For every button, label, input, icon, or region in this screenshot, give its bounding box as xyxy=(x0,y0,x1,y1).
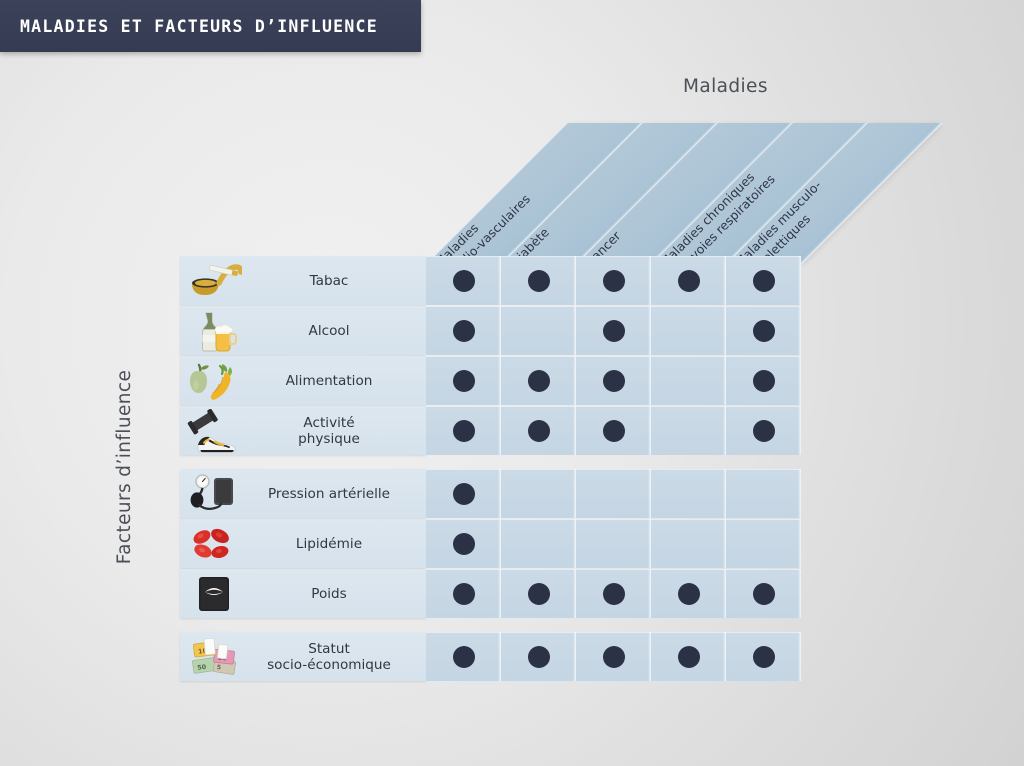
association-dot-icon xyxy=(603,270,625,292)
matrix-cell-marked[interactable] xyxy=(426,469,501,518)
row-label-panel[interactable]: Lipidémie xyxy=(180,519,426,568)
association-dot-icon xyxy=(453,483,475,505)
association-dot-icon xyxy=(453,320,475,342)
matrix-cell-marked[interactable] xyxy=(726,569,801,618)
matrix-cell-empty[interactable] xyxy=(651,469,726,518)
association-dot-icon xyxy=(528,583,550,605)
matrix-cell-marked[interactable] xyxy=(726,306,801,355)
association-dot-icon xyxy=(753,420,775,442)
title-bar: MALADIES ET FACTEURS D’INFLUENCE xyxy=(0,0,421,52)
association-dot-icon xyxy=(603,420,625,442)
association-dot-icon xyxy=(528,646,550,668)
matrix-cell-marked[interactable] xyxy=(501,632,576,681)
matrix-cell-marked[interactable] xyxy=(726,632,801,681)
matrix-cell-empty[interactable] xyxy=(576,519,651,568)
association-dot-icon xyxy=(453,646,475,668)
matrix-cell-empty[interactable] xyxy=(501,519,576,568)
matrix-cell-marked[interactable] xyxy=(501,406,576,455)
matrix-cell-empty[interactable] xyxy=(726,519,801,568)
row-label-panel[interactable]: Pression artérielle xyxy=(180,469,426,518)
matrix-cell-marked[interactable] xyxy=(651,569,726,618)
matrix-cell-marked[interactable] xyxy=(426,519,501,568)
row-label-panel[interactable]: Alimentation xyxy=(180,356,426,405)
matrix-cell-marked[interactable] xyxy=(726,256,801,305)
row-label-text: Lipidémie xyxy=(242,536,426,552)
matrix-cell-marked[interactable] xyxy=(426,306,501,355)
dumbbell-sneaker-icon xyxy=(186,408,242,453)
weight-scale-icon xyxy=(186,571,242,616)
association-dot-icon xyxy=(453,370,475,392)
association-dot-icon xyxy=(678,646,700,668)
association-dot-icon xyxy=(753,270,775,292)
matrix-cell-marked[interactable] xyxy=(576,306,651,355)
row-label-panel[interactable]: 50 5 20 10 Statut socio-économique xyxy=(180,632,426,681)
banknotes-icon: 50 5 20 10 xyxy=(186,634,242,679)
row-label-text: Activité physique xyxy=(242,415,426,447)
matrix-cell-marked[interactable] xyxy=(576,406,651,455)
matrix-cell-marked[interactable] xyxy=(726,356,801,405)
matrix-cell-marked[interactable] xyxy=(576,632,651,681)
row-label-text: Statut socio-économique xyxy=(242,641,426,673)
svg-text:50: 50 xyxy=(197,662,207,671)
row-label-panel[interactable]: Tabac xyxy=(180,256,426,305)
column-header-band: Maladies cardio-vasculairesDiabèteCancer… xyxy=(426,123,936,265)
association-dot-icon xyxy=(453,533,475,555)
matrix-cell-empty[interactable] xyxy=(651,406,726,455)
matrix-cell-marked[interactable] xyxy=(426,256,501,305)
rows-axis-title: Facteurs d’influence xyxy=(114,327,135,607)
association-dot-icon xyxy=(678,270,700,292)
blood-pressure-cuff-icon xyxy=(186,471,242,516)
matrix-cell-marked[interactable] xyxy=(426,632,501,681)
association-dot-icon xyxy=(603,583,625,605)
matrix-row-cells xyxy=(426,306,801,355)
matrix-cell-marked[interactable] xyxy=(426,406,501,455)
row-label-panel[interactable]: Poids xyxy=(180,569,426,618)
matrix-cell-marked[interactable] xyxy=(576,569,651,618)
matrix-cell-marked[interactable] xyxy=(651,256,726,305)
association-dot-icon xyxy=(603,370,625,392)
row-label-text: Alcool xyxy=(242,323,426,339)
association-dot-icon xyxy=(603,320,625,342)
matrix-row-cells xyxy=(426,632,801,681)
matrix-cell-empty[interactable] xyxy=(651,519,726,568)
association-dot-icon xyxy=(453,420,475,442)
matrix-row-cells xyxy=(426,356,801,405)
matrix-cell-marked[interactable] xyxy=(426,356,501,405)
association-dot-icon xyxy=(453,270,475,292)
pipe-cigarette-icon xyxy=(186,258,242,303)
matrix-row-cells xyxy=(426,406,801,455)
matrix-cell-empty[interactable] xyxy=(651,356,726,405)
matrix-row-cells xyxy=(426,519,801,568)
matrix-cell-marked[interactable] xyxy=(576,256,651,305)
matrix-cell-marked[interactable] xyxy=(651,632,726,681)
pear-carrot-icon xyxy=(186,358,242,403)
bottle-beer-icon xyxy=(186,308,242,353)
matrix-cell-marked[interactable] xyxy=(501,569,576,618)
row-label-panel[interactable]: Activité physique xyxy=(180,406,426,455)
matrix-cell-marked[interactable] xyxy=(576,356,651,405)
association-dot-icon xyxy=(678,583,700,605)
association-dot-icon xyxy=(603,646,625,668)
association-dot-icon xyxy=(753,320,775,342)
page-title: MALADIES ET FACTEURS D’INFLUENCE xyxy=(0,17,378,36)
matrix-cell-empty[interactable] xyxy=(501,469,576,518)
association-dot-icon xyxy=(753,646,775,668)
matrix-row-cells xyxy=(426,469,801,518)
row-label-text: Poids xyxy=(242,586,426,602)
columns-axis-title: Maladies xyxy=(683,76,768,97)
matrix-cell-marked[interactable] xyxy=(426,569,501,618)
matrix-row-cells xyxy=(426,256,801,305)
matrix-row-cells xyxy=(426,569,801,618)
row-label-text: Pression artérielle xyxy=(242,486,426,502)
matrix-cell-empty[interactable] xyxy=(501,306,576,355)
row-label-text: Tabac xyxy=(242,273,426,289)
association-dot-icon xyxy=(528,270,550,292)
association-dot-icon xyxy=(528,370,550,392)
matrix-cell-marked[interactable] xyxy=(501,356,576,405)
association-dot-icon xyxy=(528,420,550,442)
matrix-cell-marked[interactable] xyxy=(726,406,801,455)
association-dot-icon xyxy=(753,370,775,392)
association-dot-icon xyxy=(753,583,775,605)
matrix-cell-empty[interactable] xyxy=(726,469,801,518)
association-dot-icon xyxy=(453,583,475,605)
row-label-panel[interactable]: Alcool xyxy=(180,306,426,355)
blood-cells-icon xyxy=(186,521,242,566)
matrix-cell-empty[interactable] xyxy=(576,469,651,518)
matrix-cell-marked[interactable] xyxy=(501,256,576,305)
matrix-cell-empty[interactable] xyxy=(651,306,726,355)
row-label-text: Alimentation xyxy=(242,373,426,389)
